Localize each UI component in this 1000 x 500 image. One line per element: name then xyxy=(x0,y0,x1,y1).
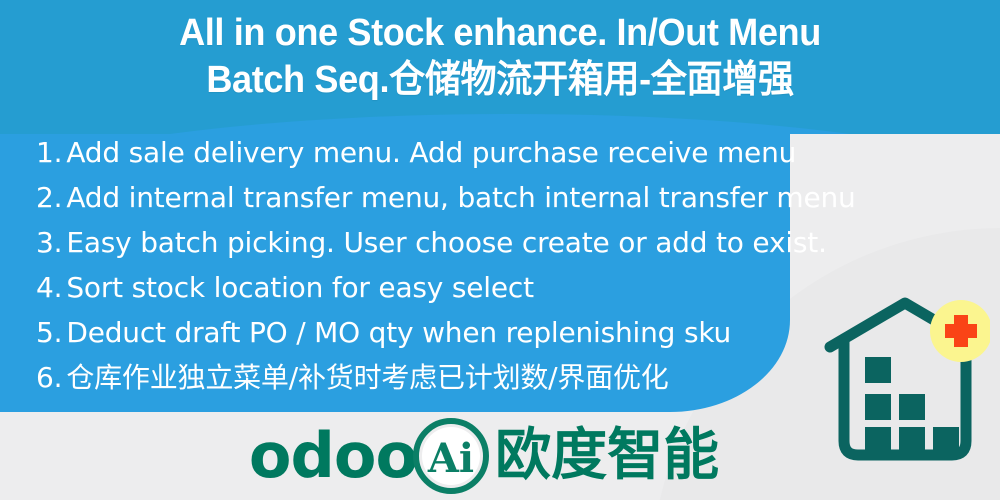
brand-logo: odoo Ai 欧度智能 xyxy=(0,412,1000,500)
list-item-number: 3. xyxy=(36,226,62,259)
svg-text:Ai: Ai xyxy=(427,435,474,482)
list-item-number: 1. xyxy=(36,136,62,169)
box-top xyxy=(865,357,891,383)
list-item: 3.Easy batch picking. User choose create… xyxy=(36,220,836,265)
list-item-number: 4. xyxy=(36,271,62,304)
list-item: 6.仓库作业独立菜单/补货时考虑已计划数/界面优化 xyxy=(36,355,836,400)
promo-banner: All in one Stock enhance. In/Out Menu Ba… xyxy=(0,0,1000,500)
brand-name-cn: 欧度智能 xyxy=(495,428,719,484)
feature-list: 1.Add sale delivery menu. Add purchase r… xyxy=(36,130,836,400)
list-item-label: 仓库作业独立菜单/补货时考虑已计划数/界面优化 xyxy=(66,361,668,394)
list-item-number: 6. xyxy=(36,361,62,394)
banner-title: All in one Stock enhance. In/Out Menu Ba… xyxy=(25,10,975,104)
list-item-number: 5. xyxy=(36,316,62,349)
title-line-1: All in one Stock enhance. In/Out Menu xyxy=(25,10,975,57)
list-item-label: Add internal transfer menu, batch intern… xyxy=(66,181,855,214)
odoo-wordmark: odoo xyxy=(249,425,417,487)
list-item-label: Add sale delivery menu. Add purchase rec… xyxy=(66,136,796,169)
list-item-number: 2. xyxy=(36,181,62,214)
list-item-label: Deduct draft PO / MO qty when replenishi… xyxy=(66,316,731,349)
list-item: 4.Sort stock location for easy select xyxy=(36,265,836,310)
title-line-2: Batch Seq.仓储物流开箱用-全面增强 xyxy=(25,57,975,104)
ai-badge-icon: Ai xyxy=(413,418,489,494)
list-item-label: Sort stock location for easy select xyxy=(66,271,534,304)
list-item: 2.Add internal transfer menu, batch inte… xyxy=(36,175,836,220)
list-item: 5.Deduct draft PO / MO qty when replenis… xyxy=(36,310,836,355)
list-item: 1.Add sale delivery menu. Add purchase r… xyxy=(36,130,836,175)
list-item-label: Easy batch picking. User choose create o… xyxy=(66,226,826,259)
